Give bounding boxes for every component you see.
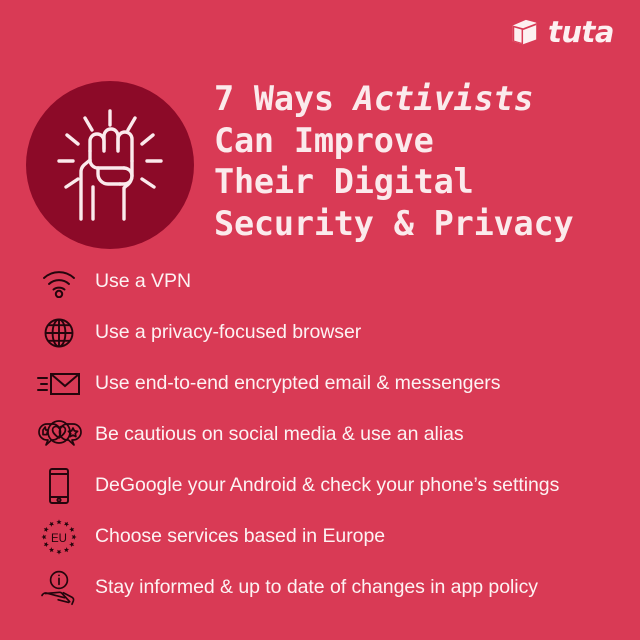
globe-icon: [34, 311, 84, 355]
headline-line-4: Security & Privacy: [214, 203, 618, 245]
headline-line-3: Their Digital: [214, 161, 618, 203]
list-item: DeGoogle your Android & check your phone…: [0, 460, 640, 511]
eu-stars-icon: EU: [34, 515, 84, 559]
social-bubbles-icon: [34, 413, 84, 457]
brand-name: tuta: [548, 18, 614, 47]
list-item-label: Use end-to-end encrypted email & messeng…: [95, 372, 500, 395]
list-item: Stay informed & up to date of changes in…: [0, 562, 640, 613]
page-title: 7 Ways Activists Can Improve Their Digit…: [214, 78, 618, 244]
list-item: Be cautious on social media & use an ali…: [0, 409, 640, 460]
list-item: Use a privacy-focused browser: [0, 307, 640, 358]
tips-list: Use a VPN Use a privacy-focused browser: [0, 256, 640, 613]
brand-logo: tuta: [509, 17, 614, 47]
list-item-label: Stay informed & up to date of changes in…: [95, 576, 538, 599]
raised-fist-badge: [26, 81, 194, 249]
raised-fist-icon: [46, 101, 174, 229]
headline-line-1: 7 Ways Activists: [214, 78, 618, 120]
list-item-label: Use a VPN: [95, 270, 191, 293]
list-item-label: Be cautious on social media & use an ali…: [95, 423, 464, 446]
list-item: EU Choose services based in Europe: [0, 511, 640, 562]
hand-info-icon: [34, 566, 84, 610]
svg-text:EU: EU: [51, 533, 67, 545]
list-item-label: Use a privacy-focused browser: [95, 321, 361, 344]
list-item: Use end-to-end encrypted email & messeng…: [0, 358, 640, 409]
envelope-send-icon: [34, 362, 84, 406]
infographic-poster: tuta: [0, 0, 640, 640]
list-item-label: DeGoogle your Android & check your phone…: [95, 474, 559, 497]
list-item-label: Choose services based in Europe: [95, 525, 385, 548]
tuta-box-logo-icon: [509, 17, 539, 47]
headline-line-2: Can Improve: [214, 120, 618, 162]
smartphone-icon: [34, 464, 84, 508]
wifi-signal-icon: [34, 260, 84, 304]
list-item: Use a VPN: [0, 256, 640, 307]
